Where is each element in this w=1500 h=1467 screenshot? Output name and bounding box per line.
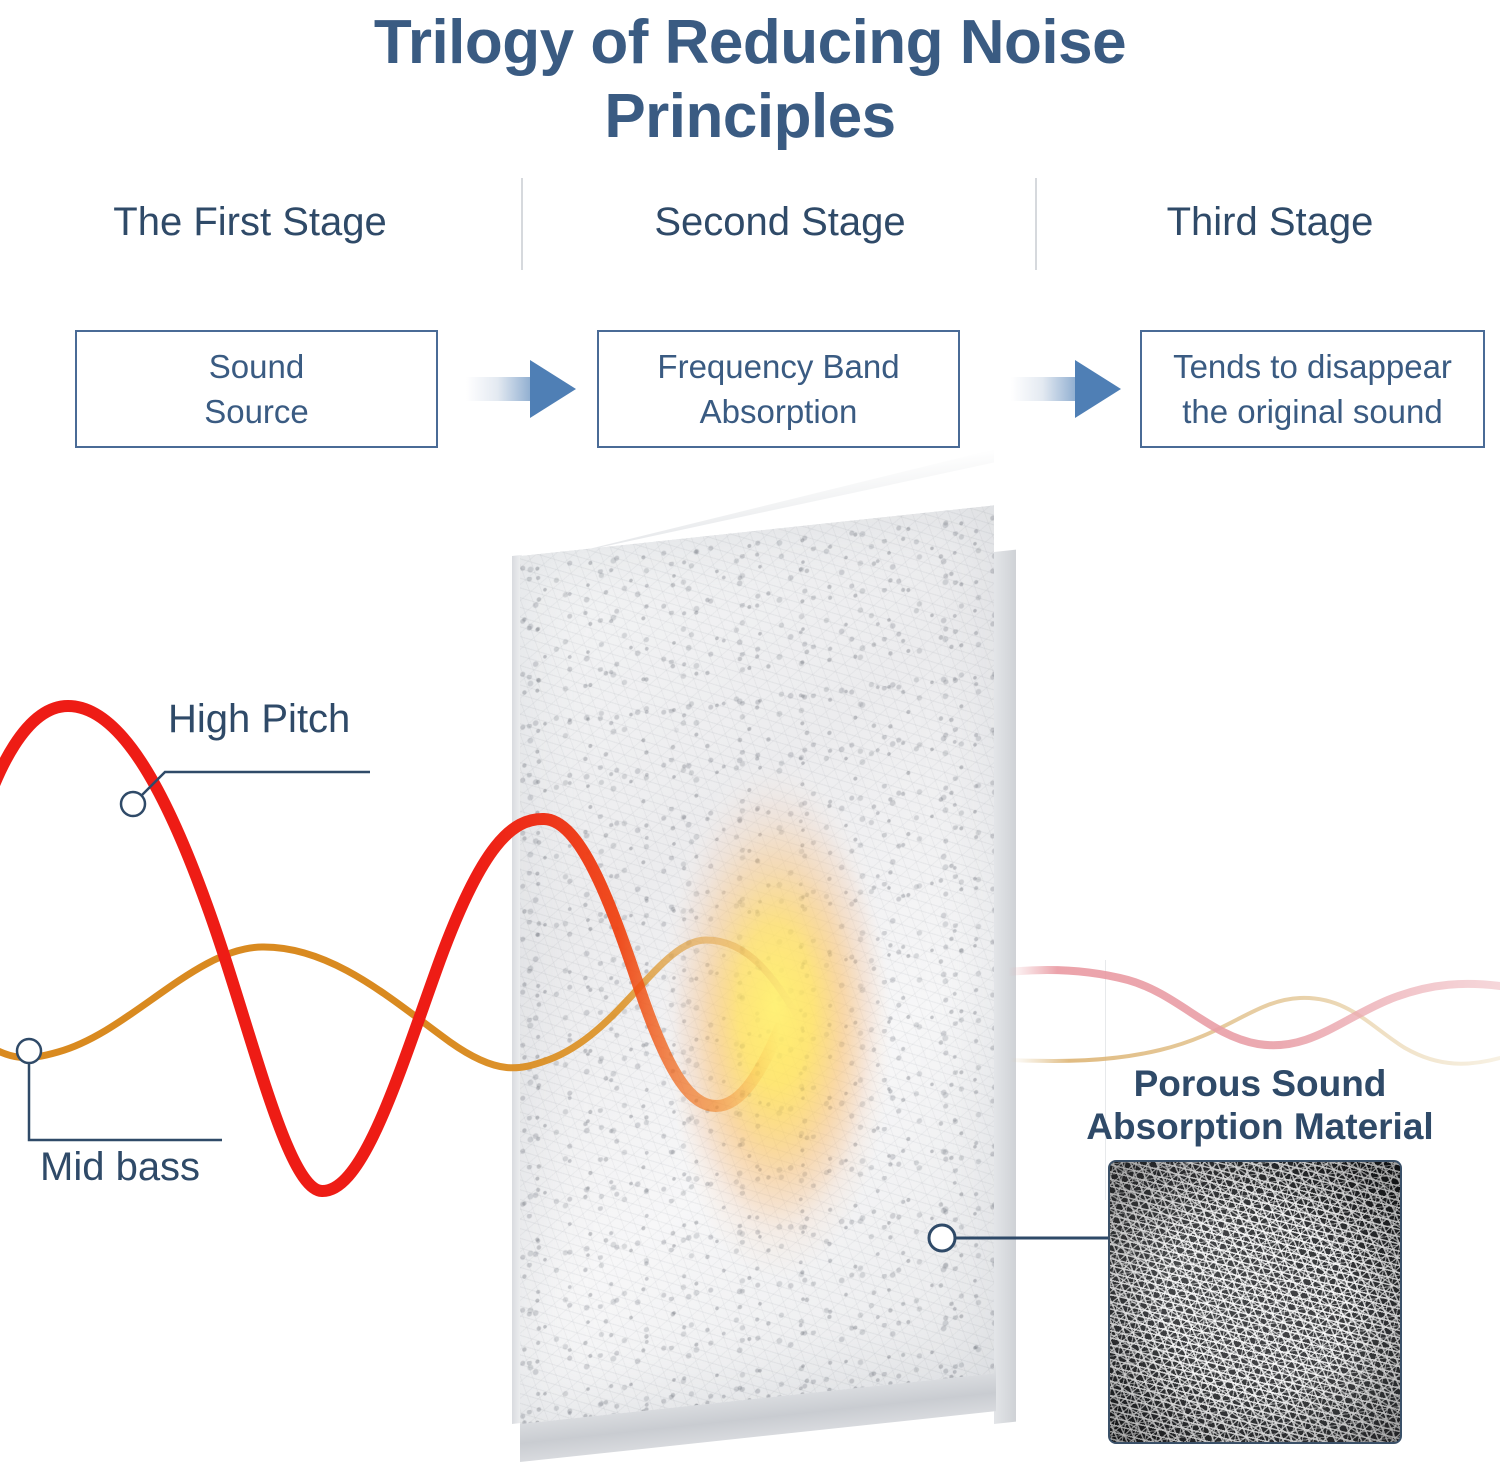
stage-divider-2	[1035, 178, 1037, 270]
fiber-micrograph-inset	[1108, 1160, 1402, 1444]
mid-bass-anchor-dot	[17, 1039, 41, 1063]
micrograph-vignette	[1110, 1162, 1400, 1442]
flow-box-sound-source[interactable]: Sound Source	[75, 330, 438, 448]
flow-box-frequency-band-absorption[interactable]: Frequency Band Absorption	[597, 330, 960, 448]
frequency-band-line-2: Absorption	[657, 389, 899, 434]
porous-line-2: Absorption Material	[1085, 1105, 1435, 1148]
porous-line-1: Porous Sound	[1085, 1062, 1435, 1105]
arrow-head	[1075, 360, 1121, 418]
acoustic-panel	[500, 500, 1040, 1460]
mid-bass-leader-line	[29, 1064, 222, 1140]
page-title: Trilogy of Reducing Noise Principles	[0, 6, 1500, 154]
title-line-2: Principles	[0, 80, 1500, 154]
high-pitch-anchor-dot	[121, 792, 145, 816]
flow-box-tends-to-disappear[interactable]: Tends to disappear the original sound	[1140, 330, 1485, 448]
panel-front-face	[520, 505, 994, 1424]
arrow-stage1-to-stage2-icon	[466, 360, 576, 418]
stage-label-second: Second Stage	[545, 200, 1015, 245]
sound-source-line-1: Sound	[204, 344, 309, 389]
callout-high-pitch: High Pitch	[168, 697, 350, 742]
title-line-1: Trilogy of Reducing Noise	[374, 8, 1126, 77]
sound-source-line-2: Source	[204, 389, 309, 434]
arrow-shaft	[1011, 377, 1081, 401]
panel-right-edge	[994, 550, 1016, 1424]
arrow-stage2-to-stage3-icon	[1011, 360, 1121, 418]
callout-porous-material: Porous Sound Absorption Material	[1085, 1062, 1435, 1148]
tends-disappear-line-2: the original sound	[1173, 389, 1452, 434]
wave-high-pitch-attenuated	[1008, 970, 1500, 1045]
wave-mid-bass-attenuated	[1010, 998, 1500, 1064]
stage-divider-1	[521, 178, 523, 270]
callout-mid-bass: Mid bass	[40, 1145, 200, 1190]
arrow-shaft	[466, 377, 536, 401]
frequency-band-line-1: Frequency Band	[657, 344, 899, 389]
high-pitch-leader-line	[142, 772, 370, 795]
stage-label-first: The First Stage	[0, 200, 500, 245]
stage-label-third: Third Stage	[1060, 200, 1480, 245]
tends-disappear-line-1: Tends to disappear	[1173, 344, 1452, 389]
arrow-head	[530, 360, 576, 418]
